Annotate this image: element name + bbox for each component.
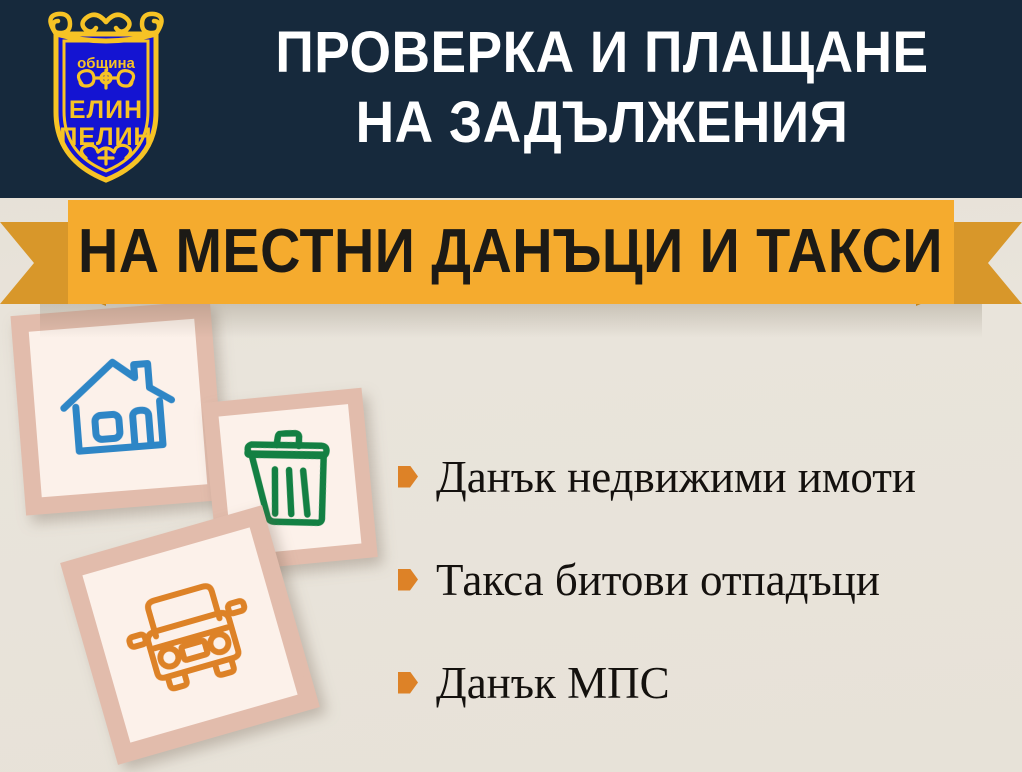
- subtitle-ribbon: НА МЕСТНИ ДАНЪЦИ И ТАКСИ: [0, 198, 1022, 313]
- title-line-2: НА ЗАДЪЛЖЕНИЯ: [228, 88, 975, 158]
- header-bar: община ЕЛИН ПЕЛИН: [0, 0, 1022, 198]
- title-line-1: ПРОВЕРКА И ПЛАЩАНЕ: [228, 18, 975, 88]
- tax-type-list: Данък недвижими имоти Такса битови отпад…: [398, 425, 1010, 734]
- logo-name-line-1: ЕЛИН: [69, 96, 143, 124]
- poster-root: община ЕЛИН ПЕЛИН: [0, 0, 1022, 772]
- list-item[interactable]: Такса битови отпадъци: [398, 528, 1010, 631]
- list-item-label: Такса битови отпадъци: [436, 556, 880, 604]
- arrow-bullet-icon: [398, 569, 418, 591]
- arrow-bullet-icon: [398, 672, 418, 694]
- ribbon-drop-shadow: [40, 304, 982, 338]
- list-item-label: Данък МПС: [436, 659, 670, 707]
- list-item[interactable]: Данък МПС: [398, 631, 1010, 734]
- stamp-collage: [0, 300, 420, 772]
- stamp-paper-house: [29, 319, 208, 498]
- list-item-label: Данък недвижими имоти: [436, 453, 916, 501]
- arrow-bullet-icon: [398, 466, 418, 488]
- poster-title: ПРОВЕРКА И ПЛАЩАНЕ НА ЗАДЪЛЖЕНИЯ: [196, 18, 1008, 158]
- ribbon-tail-right: [942, 222, 1022, 304]
- ribbon-banner: НА МЕСТНИ ДАНЪЦИ И ТАКСИ: [68, 200, 954, 304]
- house-icon: [54, 347, 182, 468]
- stamp-paper-car: [82, 527, 297, 742]
- ribbon-text: НА МЕСТНИ ДАНЪЦИ И ТАКСИ: [79, 221, 944, 283]
- municipality-logo: община ЕЛИН ПЕЛИН: [22, 8, 190, 190]
- car-front-icon: [114, 567, 266, 702]
- list-item[interactable]: Данък недвижими имоти: [398, 425, 1010, 528]
